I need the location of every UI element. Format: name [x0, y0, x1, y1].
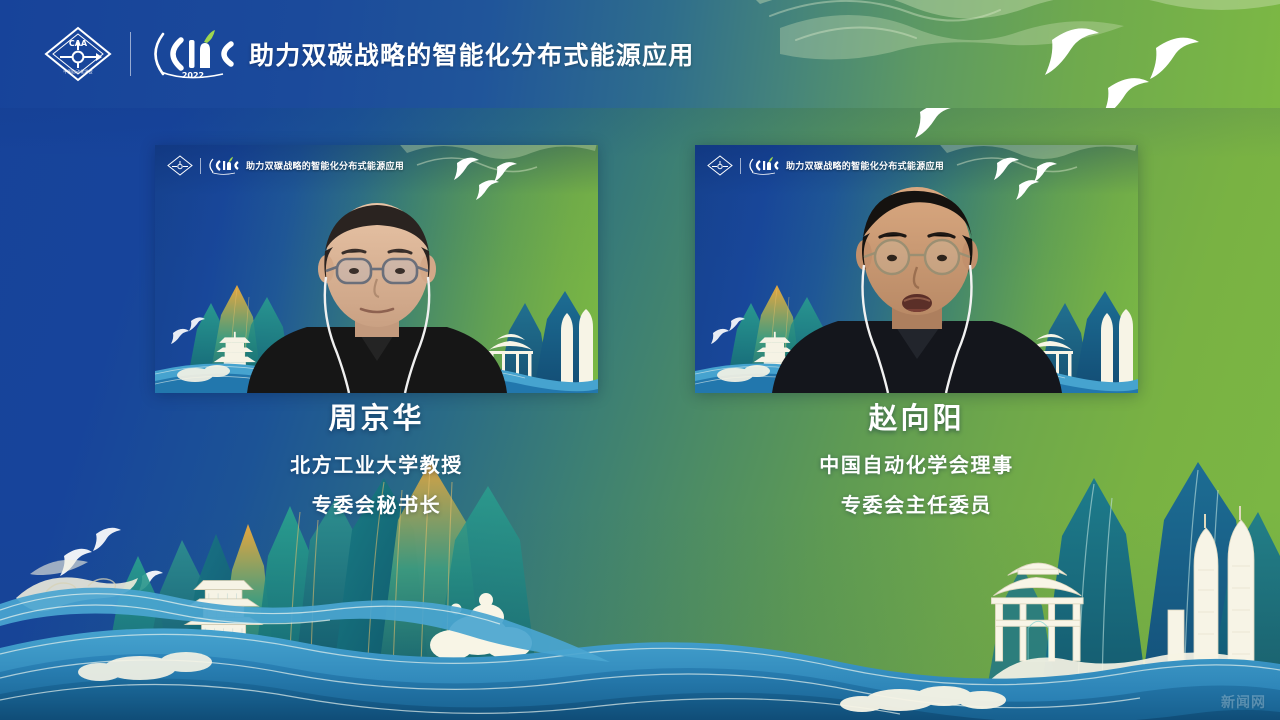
speaker-video-right	[762, 193, 1072, 393]
caa-logo-subtext: 中国自动化学会	[63, 68, 93, 75]
speaker-caption-right: 赵向阳 中国自动化学会理事 专委会主任委员	[695, 404, 1138, 515]
speaker-role-left: 专委会秘书长	[155, 495, 598, 515]
tile-divider-left	[200, 158, 201, 174]
tile-caa-logo-right	[707, 155, 733, 176]
tile-ciic-logo-left	[207, 156, 239, 175]
ciic-logo-year: 2022	[182, 71, 204, 80]
tile-title-left: 助力双碳战略的智能化分布式能源应用	[246, 159, 404, 172]
presentation-stage: CAA 中国自动化学会	[0, 0, 1280, 720]
page-header: CAA 中国自动化学会	[0, 0, 1280, 108]
speaker-affiliation-right: 中国自动化学会理事	[695, 455, 1138, 475]
header-divider	[130, 32, 131, 76]
tile-ciic-logo-right	[747, 156, 779, 175]
speaker-role-right: 专委会主任委员	[695, 495, 1138, 515]
speaker-affiliation-left: 北方工业大学教授	[155, 455, 598, 475]
speaker-video-left	[227, 203, 527, 393]
video-tile-left[interactable]: 助力双碳战略的智能化分布式能源应用	[155, 145, 598, 393]
tile-header-left: 助力双碳战略的智能化分布式能源应用	[167, 155, 404, 176]
tile-divider-right	[740, 158, 741, 174]
video-tile-right[interactable]: 助力双碳战略的智能化分布式能源应用	[695, 145, 1138, 393]
watermark: 新闻网	[1221, 692, 1266, 712]
video-grid: 助力双碳战略的智能化分布式能源应用	[0, 145, 1280, 395]
speaker-caption-left: 周京华 北方工业大学教授 专委会秘书长	[155, 404, 598, 515]
header-decor	[700, 0, 1280, 108]
page-title: 助力双碳战略的智能化分布式能源应用	[249, 36, 694, 72]
speaker-name-left: 周京华	[155, 404, 598, 433]
ciic-logo: 2022	[147, 28, 233, 80]
speaker-name-right: 赵向阳	[695, 404, 1138, 433]
tile-header-right: 助力双碳战略的智能化分布式能源应用	[707, 155, 944, 176]
speaker-captions: 周京华 北方工业大学教授 专委会秘书长 赵向阳 中国自动化学会理事 专委会主任委…	[0, 404, 1280, 544]
caa-logo: CAA 中国自动化学会	[44, 26, 112, 82]
tile-title-right: 助力双碳战略的智能化分布式能源应用	[786, 159, 944, 172]
tile-caa-logo-left	[167, 155, 193, 176]
